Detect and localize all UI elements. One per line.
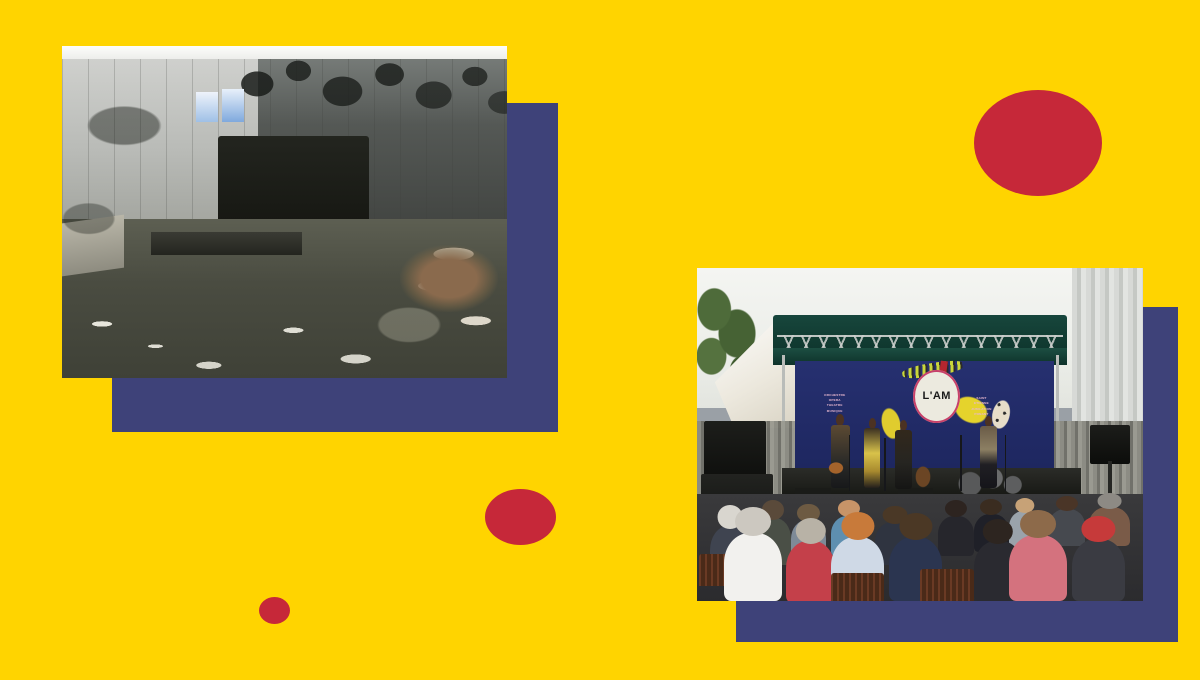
body xyxy=(864,428,880,488)
audience-member xyxy=(1009,535,1067,601)
photo-1-curb xyxy=(62,214,124,276)
photo-2-mic-stand-3 xyxy=(960,435,962,492)
photo-1-rubble xyxy=(400,245,498,311)
photo-2-backdrop-text-right: SAINT ETIENNE JUBILATION PONANT xyxy=(971,396,991,417)
collage-canvas: ORCHESTRE OPERA THEATRE MUSIQUE SAINT ET… xyxy=(0,0,1200,680)
audience-chair xyxy=(831,573,885,601)
photo-2-speaker-right xyxy=(1090,425,1130,465)
photo-2-guitar xyxy=(826,458,846,478)
red-ellipse-large xyxy=(974,90,1102,196)
photo-2-lam-logo-text: L'AM xyxy=(922,391,950,401)
photo-1-wall-poster-2 xyxy=(222,89,244,122)
body xyxy=(895,430,911,490)
photo-2-mic-stand-4 xyxy=(1005,435,1007,492)
photo-1-bench xyxy=(151,232,302,255)
red-ellipse-medium xyxy=(485,489,556,545)
photo-1-wall-poster xyxy=(196,92,218,122)
photo-concert-stage-audience[interactable]: ORCHESTRE OPERA THEATRE MUSIQUE SAINT ET… xyxy=(697,268,1143,601)
audience-member xyxy=(938,516,974,556)
audience-member xyxy=(1072,539,1126,601)
photo-2-audience xyxy=(697,494,1143,601)
photo-band-members-outdoors[interactable] xyxy=(62,46,507,378)
body xyxy=(980,426,997,488)
red-ellipse-small xyxy=(259,597,290,624)
audience-member xyxy=(786,541,835,601)
photo-2-musician-bassist xyxy=(895,430,911,490)
photo-2-musician-singer xyxy=(864,428,880,488)
photo-2-backdrop-text-left: ORCHESTRE OPERA THEATRE MUSIQUE xyxy=(824,393,845,414)
body xyxy=(831,425,850,488)
photo-2-musician-saxophonist xyxy=(980,426,997,488)
photo-2-double-bass xyxy=(913,448,933,488)
audience-member xyxy=(724,533,782,601)
photo-1-leaf-shadows xyxy=(222,56,507,149)
photo-2-mic-stand-2 xyxy=(884,438,886,491)
photo-2-musician-guitarist xyxy=(831,425,850,488)
photo-2-building xyxy=(1072,268,1143,421)
audience-chair xyxy=(920,569,974,601)
photo-2-content: ORCHESTRE OPERA THEATRE MUSIQUE SAINT ET… xyxy=(697,268,1143,601)
photo-2-mic-stand-1 xyxy=(849,435,851,492)
photo-1-content xyxy=(62,46,507,378)
photo-2-lam-logo: L'AM xyxy=(913,370,960,423)
